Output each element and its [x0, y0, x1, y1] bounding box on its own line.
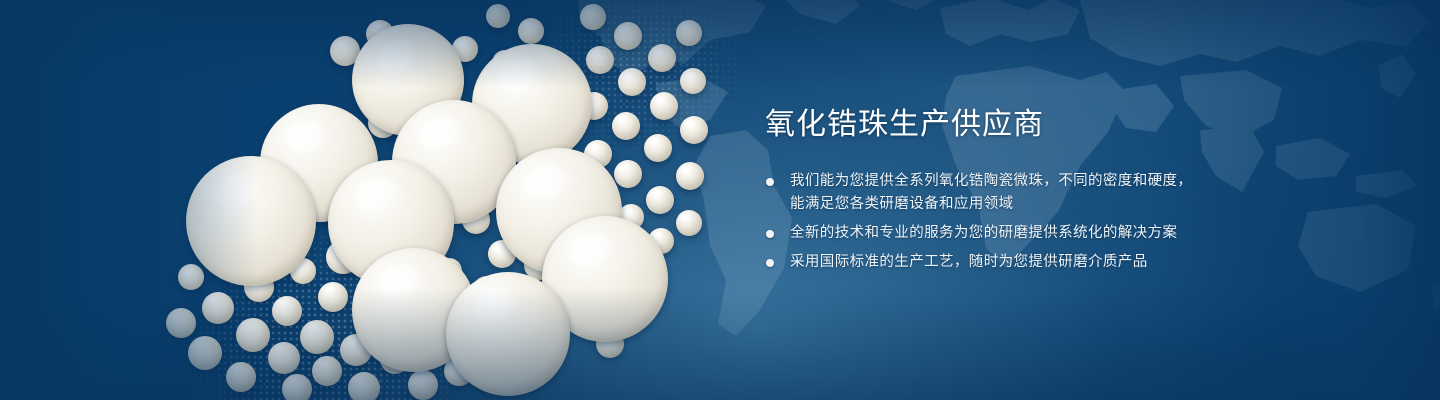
bullet-line: 我们能为您提供全系列氧化锆陶瓷微珠，不同的密度和硬度，: [790, 170, 1285, 193]
bullet-line: 能满足您各类研磨设备和应用领域: [790, 193, 1285, 216]
promo-banner: 氧化锆珠生产供应商 我们能为您提供全系列氧化锆陶瓷微珠，不同的密度和硬度， 能满…: [0, 0, 1440, 400]
bullet-dot-icon: [766, 178, 774, 186]
list-item: 全新的技术和专业的服务为您的研磨提供系统化的解决方案: [765, 222, 1285, 245]
bullet-line: 全新的技术和专业的服务为您的研磨提供系统化的解决方案: [790, 222, 1285, 245]
list-item: 采用国际标准的生产工艺，随时为您提供研磨介质产品: [765, 251, 1285, 274]
bullet-dot-icon: [766, 259, 774, 267]
list-item: 我们能为您提供全系列氧化锆陶瓷微珠，不同的密度和硬度， 能满足您各类研磨设备和应…: [765, 170, 1285, 216]
bullet-dot-icon: [766, 230, 774, 238]
page-title: 氧化锆珠生产供应商: [765, 106, 1285, 144]
feature-bullet-list: 我们能为您提供全系列氧化锆陶瓷微珠，不同的密度和硬度， 能满足您各类研磨设备和应…: [765, 170, 1285, 274]
banner-copy-block: 氧化锆珠生产供应商 我们能为您提供全系列氧化锆陶瓷微珠，不同的密度和硬度， 能满…: [765, 106, 1285, 274]
bullet-line: 采用国际标准的生产工艺，随时为您提供研磨介质产品: [790, 251, 1285, 274]
